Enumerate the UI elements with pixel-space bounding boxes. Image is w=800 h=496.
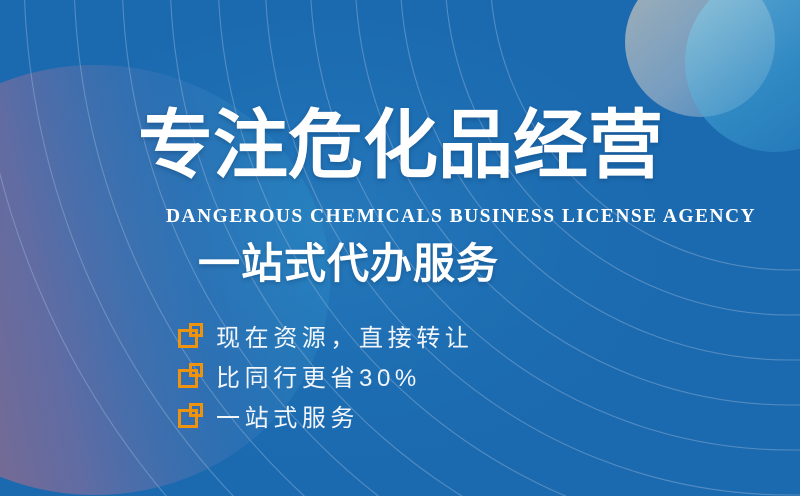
- promo-banner: 专注危化品经营 DANGEROUS CHEMICALS BUSINESS LIC…: [0, 0, 800, 496]
- overlapping-squares-icon: [178, 323, 203, 348]
- banner-content: 专注危化品经营 DANGEROUS CHEMICALS BUSINESS LIC…: [0, 0, 800, 496]
- feature-label: 一站式服务: [216, 398, 359, 433]
- list-item: 现在资源，直接转让: [178, 316, 473, 354]
- list-item: 比同行更省30%: [178, 356, 473, 394]
- list-item: 一站式服务: [178, 396, 473, 434]
- english-subtitle: DANGEROUS CHEMICALS BUSINESS LICENSE AGE…: [166, 206, 756, 228]
- overlapping-squares-icon: [178, 363, 203, 388]
- feature-label: 比同行更省30%: [216, 358, 421, 393]
- chinese-subtitle: 一站式代办服务: [198, 243, 499, 285]
- page-title: 专注危化品经营: [138, 108, 663, 183]
- overlapping-squares-icon: [178, 403, 203, 428]
- feature-label: 现在资源，直接转让: [216, 318, 473, 353]
- feature-list: 现在资源，直接转让 比同行更省30% 一站式服务: [178, 316, 473, 436]
